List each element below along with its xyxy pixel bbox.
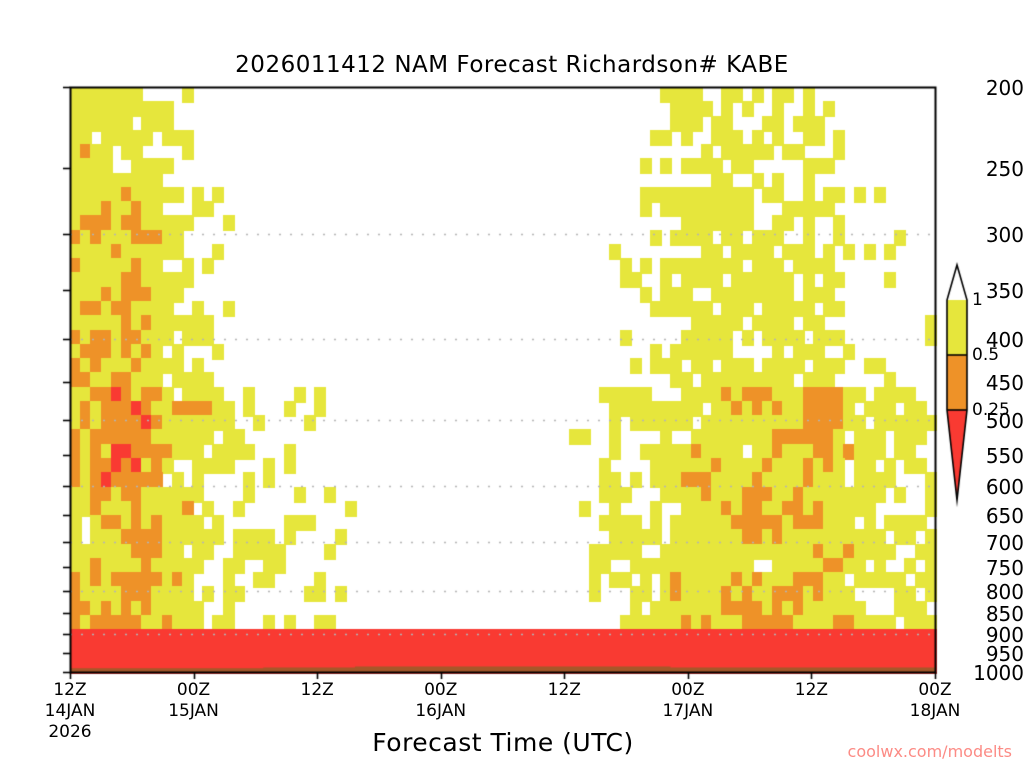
x-tick-date: 17JAN bbox=[628, 701, 748, 722]
x-tick-time: 00Z bbox=[875, 680, 995, 701]
x-axis-tick-label: 00Z17JAN bbox=[628, 680, 748, 722]
x-tick-time: 00Z bbox=[381, 680, 501, 701]
x-axis-tick-label: 12Z14JAN2026 bbox=[10, 680, 130, 743]
x-axis-tick-label: 00Z16JAN bbox=[381, 680, 501, 722]
x-axis-tick-label: 00Z18JAN bbox=[875, 680, 995, 722]
x-axis-tick-label: 12Z bbox=[751, 680, 871, 701]
x-axis-tick-label: 12Z bbox=[504, 680, 624, 701]
x-tick-date: 18JAN bbox=[875, 701, 995, 722]
y-axis-tick-label: 300 bbox=[962, 223, 1024, 247]
forecast-chart-figure: 2026011412 NAM Forecast Richardson# KABE… bbox=[0, 0, 1024, 768]
x-tick-time: 12Z bbox=[751, 680, 871, 701]
y-axis-tick-label: 800 bbox=[962, 580, 1024, 604]
richardson-number-heatmap-canvas bbox=[0, 0, 1024, 768]
watermark-link[interactable]: coolwx.com/modelts bbox=[0, 742, 1012, 761]
x-tick-time: 12Z bbox=[10, 680, 130, 701]
colorbar-tick-label: 0.5 bbox=[972, 345, 999, 365]
colorbar-tick-label: 1 bbox=[972, 290, 983, 310]
x-tick-time: 00Z bbox=[628, 680, 748, 701]
x-tick-date: 16JAN bbox=[381, 701, 501, 722]
y-axis-tick-label: 200 bbox=[962, 76, 1024, 100]
y-axis-tick-label: 600 bbox=[962, 475, 1024, 499]
y-axis-tick-label: 650 bbox=[962, 504, 1024, 528]
colorbar-tick-label: 0.25 bbox=[972, 400, 1010, 420]
y-axis-tick-label: 750 bbox=[962, 556, 1024, 580]
x-tick-time: 12Z bbox=[257, 680, 377, 701]
y-axis-tick-label: 550 bbox=[962, 444, 1024, 468]
x-tick-time: 00Z bbox=[134, 680, 254, 701]
x-axis-tick-label: 00Z15JAN bbox=[134, 680, 254, 722]
y-axis-tick-label: 250 bbox=[962, 157, 1024, 181]
y-axis-tick-label: 450 bbox=[962, 371, 1024, 395]
x-tick-time: 12Z bbox=[504, 680, 624, 701]
x-axis-tick-label: 12Z bbox=[257, 680, 377, 701]
page-title: 2026011412 NAM Forecast Richardson# KABE bbox=[0, 52, 1024, 78]
x-tick-year: 2026 bbox=[10, 722, 130, 743]
y-axis-tick-label: 700 bbox=[962, 531, 1024, 555]
x-tick-date: 14JAN bbox=[10, 701, 130, 722]
x-tick-date: 15JAN bbox=[134, 701, 254, 722]
